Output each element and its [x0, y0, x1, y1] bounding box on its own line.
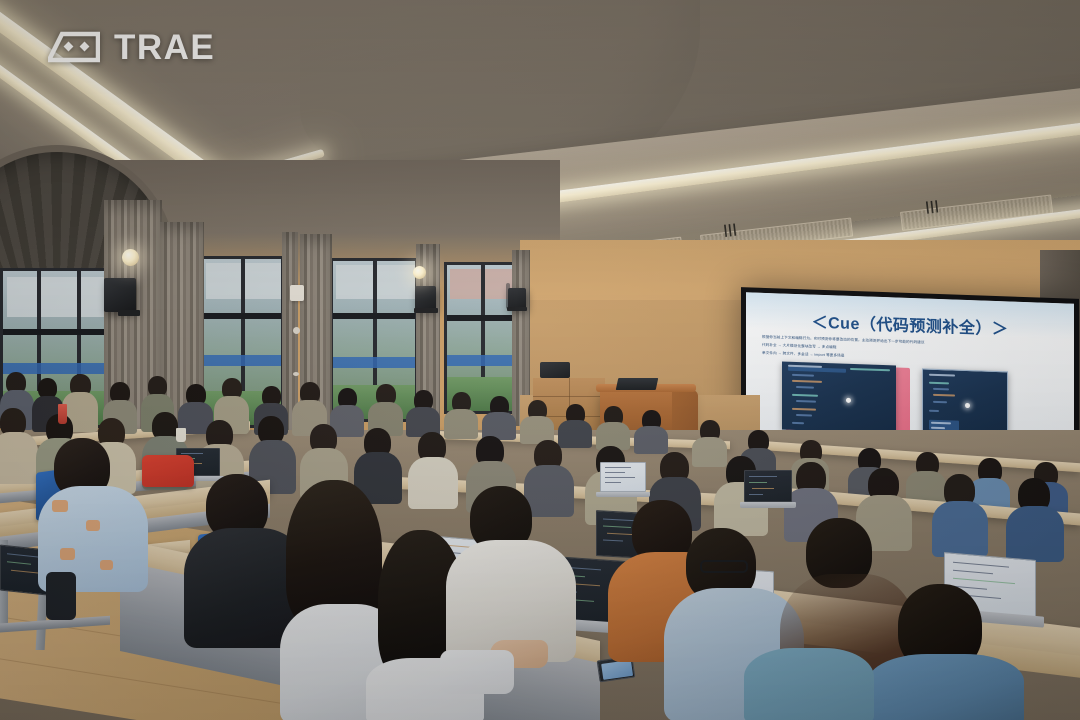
podium-laptop: [616, 378, 659, 390]
speaker-bracket-3: [507, 307, 527, 311]
wall-speaker-4: [506, 283, 510, 309]
trae-logo: TRAE: [48, 28, 215, 66]
paper-cup: [176, 428, 186, 442]
wall-speaker-3: [508, 288, 526, 309]
wall-sconce-2: [413, 266, 426, 279]
wall-plate-1: [290, 285, 304, 301]
slide-bullet-3: 单文件内 → 跨文件、多会话 → import 等更多场景: [762, 351, 845, 359]
eyeglasses-icon: [700, 560, 748, 573]
student-legs: [46, 572, 76, 620]
wall-sconce-1: [122, 249, 139, 266]
trae-logo-text: TRAE: [114, 30, 215, 65]
speaker-bracket-1: [118, 310, 140, 316]
laptop-screen: [744, 470, 792, 502]
logo-wordmark: TRAE: [114, 30, 215, 65]
red-backpack: [142, 455, 194, 487]
slide-bullet-2: 代码补全 → 大片模块化整块改写 → 多点编辑: [762, 343, 837, 351]
cabinet-monitor: [540, 362, 570, 378]
wall-dot-1: [293, 327, 300, 334]
speaker-bracket-2: [414, 308, 438, 313]
left-code-screenshot: [782, 362, 896, 434]
trae-logo-mark-icon: [48, 28, 100, 66]
lecture-hall-photo: ||| ||| |||: [0, 0, 1080, 720]
wall-speaker-2: [415, 286, 436, 310]
student-sleeve: [440, 650, 514, 694]
student-torso: [868, 654, 1024, 720]
student-torso: [744, 648, 874, 720]
laptop-screen: [600, 462, 646, 492]
wall-dot-2: [293, 372, 299, 376]
drink-bottle: [58, 404, 67, 424]
wall-speaker-1: [104, 278, 136, 312]
